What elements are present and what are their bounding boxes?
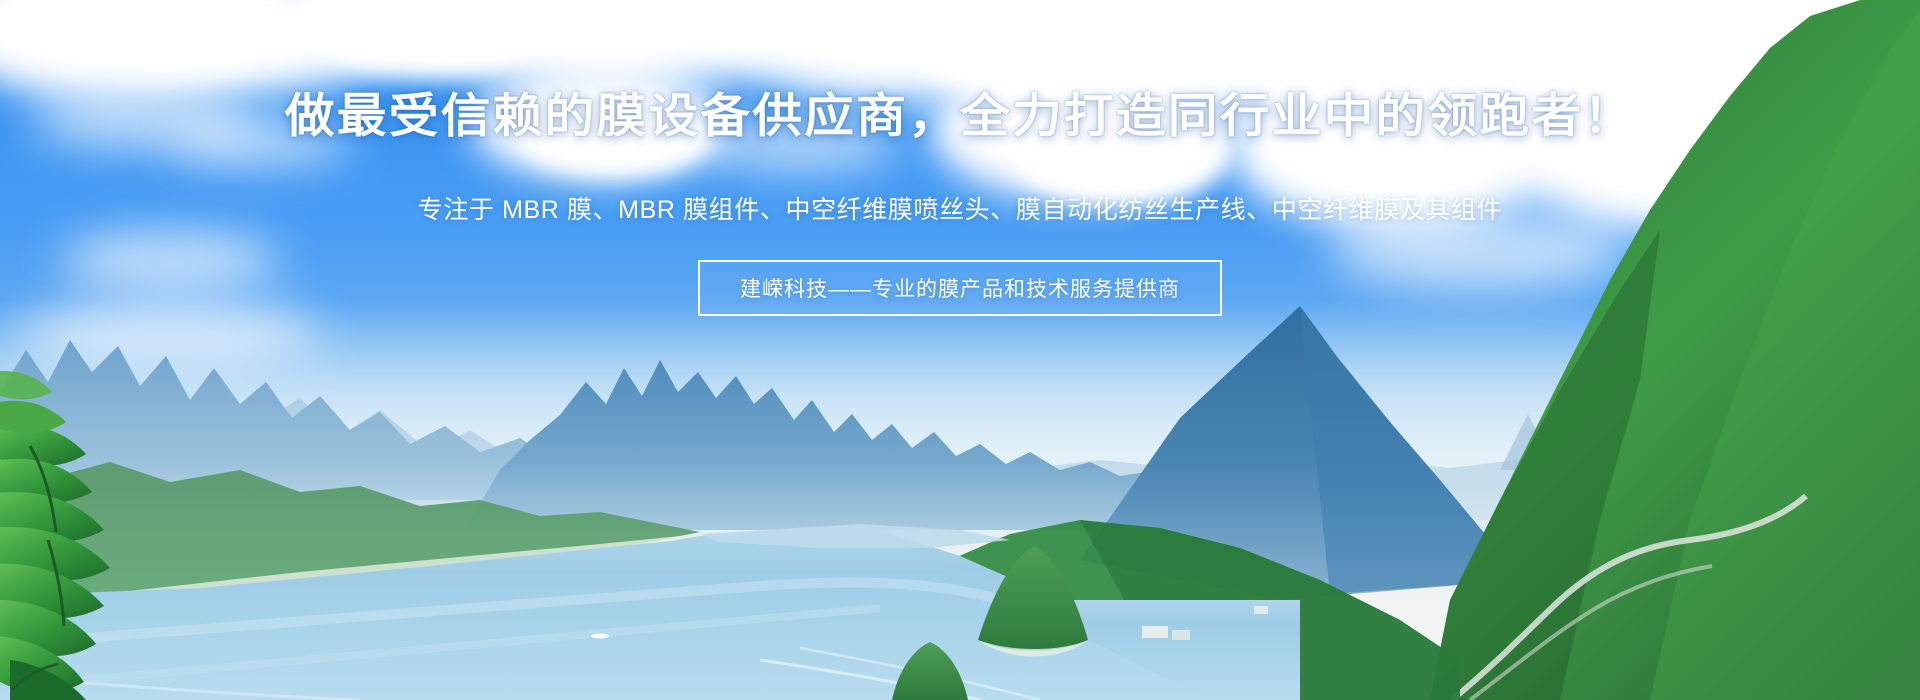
leaf-cluster	[0, 371, 110, 700]
hero-banner: 做最受信赖的膜设备供应商，全力打造同行业中的领跑者！ 专注于 MBR 膜、MBR…	[0, 0, 1920, 700]
tagline-box: 建嵘科技——专业的膜产品和技术服务提供商	[698, 260, 1222, 316]
page-title: 做最受信赖的膜设备供应商，全力打造同行业中的领跑者！	[0, 86, 1920, 146]
banner-copy: 做最受信赖的膜设备供应商，全力打造同行业中的领跑者！ 专注于 MBR 膜、MBR…	[0, 86, 1920, 316]
banner-subtitle: 专注于 MBR 膜、MBR 膜组件、中空纤维膜喷丝头、膜自动化纺丝生产线、中空纤…	[0, 190, 1920, 226]
